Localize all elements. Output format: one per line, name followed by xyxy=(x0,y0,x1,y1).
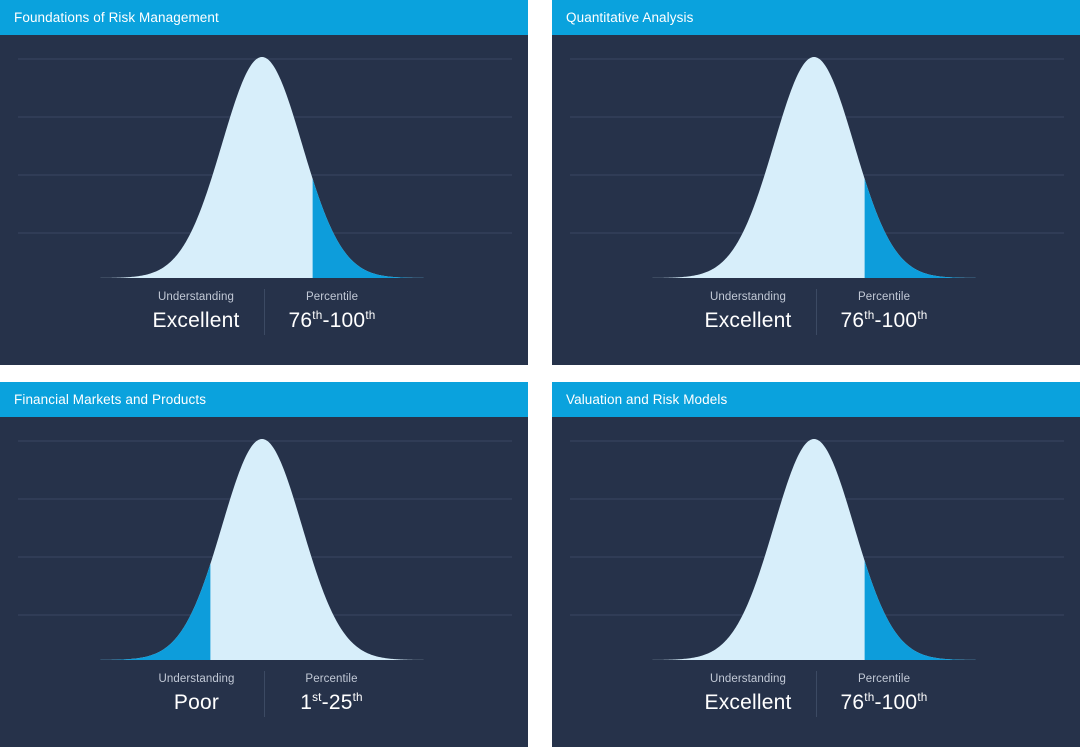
percentile-from: 76 xyxy=(841,691,865,714)
card-title: Financial Markets and Products xyxy=(14,393,206,407)
understanding-value: Poor xyxy=(174,689,219,717)
stat-understanding: UnderstandingPoor xyxy=(130,671,264,717)
percentile-from-suffix: st xyxy=(312,691,322,704)
score-card-valuation-and-risk-models: Valuation and Risk ModelsUnderstandingEx… xyxy=(552,382,1080,747)
understanding-label: Understanding xyxy=(158,289,234,306)
stat-understanding: UnderstandingExcellent xyxy=(680,671,815,717)
percentile-from: 1 xyxy=(300,691,312,714)
percentile-from-suffix: th xyxy=(312,309,322,322)
percentile-from-suffix: th xyxy=(864,309,874,322)
stat-understanding: UnderstandingExcellent xyxy=(680,289,815,335)
chart-container xyxy=(552,35,1080,283)
card-title: Quantitative Analysis xyxy=(566,11,693,25)
distribution-curve-area xyxy=(57,57,466,278)
section-score-grid: Foundations of Risk ManagementUnderstand… xyxy=(0,0,1080,747)
percentile-from: 76 xyxy=(289,309,313,332)
card-stats: UnderstandingExcellentPercentile76th-100… xyxy=(0,283,528,335)
percentile-to-suffix: th xyxy=(917,691,927,704)
stat-percentile: Percentile76th-100th xyxy=(816,289,952,335)
stat-percentile: Percentile1st-25th xyxy=(264,671,399,717)
understanding-value: Excellent xyxy=(152,307,239,335)
percentile-from: 76 xyxy=(841,309,865,332)
card-title: Foundations of Risk Management xyxy=(14,11,219,25)
distribution-curve-area xyxy=(57,439,466,660)
percentile-label: Percentile xyxy=(306,289,358,306)
percentile-label: Percentile xyxy=(858,289,910,306)
percentile-label: Percentile xyxy=(305,671,357,688)
percentile-separator: - xyxy=(322,309,329,332)
bell-curve-chart xyxy=(552,35,1080,283)
score-card-financial-markets-and-products: Financial Markets and ProductsUnderstand… xyxy=(0,382,528,747)
percentile-to: 100 xyxy=(330,309,366,332)
distribution-curve-area xyxy=(609,439,1018,660)
understanding-label: Understanding xyxy=(710,289,786,306)
percentile-to: 100 xyxy=(882,691,918,714)
card-body: UnderstandingExcellentPercentile76th-100… xyxy=(552,35,1080,365)
stat-percentile: Percentile76th-100th xyxy=(264,289,400,335)
percentile-to: 100 xyxy=(882,309,918,332)
card-stats: UnderstandingPoorPercentile1st-25th xyxy=(0,665,528,717)
percentile-to-suffix: th xyxy=(353,691,363,704)
chart-container xyxy=(0,417,528,665)
card-stats: UnderstandingExcellentPercentile76th-100… xyxy=(552,665,1080,717)
chart-container xyxy=(552,417,1080,665)
score-card-quantitative-analysis: Quantitative AnalysisUnderstandingExcell… xyxy=(552,0,1080,365)
card-header: Quantitative Analysis xyxy=(552,0,1080,35)
percentile-to-suffix: th xyxy=(365,309,375,322)
card-body: UnderstandingExcellentPercentile76th-100… xyxy=(0,35,528,365)
distribution-curve-area xyxy=(609,57,1018,278)
percentile-to-suffix: th xyxy=(917,309,927,322)
card-header: Foundations of Risk Management xyxy=(0,0,528,35)
understanding-value: Excellent xyxy=(704,689,791,717)
percentile-separator: - xyxy=(322,691,329,714)
chart-container xyxy=(0,35,528,283)
understanding-value: Excellent xyxy=(704,307,791,335)
card-body: UnderstandingPoorPercentile1st-25th xyxy=(0,417,528,747)
percentile-separator: - xyxy=(874,691,881,714)
card-title: Valuation and Risk Models xyxy=(566,393,727,407)
percentile-value: 76th-100th xyxy=(841,689,928,717)
percentile-value: 76th-100th xyxy=(289,307,376,335)
percentile-value: 76th-100th xyxy=(841,307,928,335)
card-body: UnderstandingExcellentPercentile76th-100… xyxy=(552,417,1080,747)
percentile-from-suffix: th xyxy=(864,691,874,704)
percentile-label: Percentile xyxy=(858,671,910,688)
score-card-foundations-of-risk-management: Foundations of Risk ManagementUnderstand… xyxy=(0,0,528,365)
card-header: Valuation and Risk Models xyxy=(552,382,1080,417)
bell-curve-chart xyxy=(0,35,528,283)
bell-curve-chart xyxy=(0,417,528,665)
percentile-separator: - xyxy=(874,309,881,332)
understanding-label: Understanding xyxy=(710,671,786,688)
percentile-value: 1st-25th xyxy=(300,689,363,717)
card-header: Financial Markets and Products xyxy=(0,382,528,417)
stat-percentile: Percentile76th-100th xyxy=(816,671,952,717)
bell-curve-chart xyxy=(552,417,1080,665)
percentile-to: 25 xyxy=(329,691,353,714)
stat-understanding: UnderstandingExcellent xyxy=(128,289,263,335)
card-stats: UnderstandingExcellentPercentile76th-100… xyxy=(552,283,1080,335)
understanding-label: Understanding xyxy=(158,671,234,688)
